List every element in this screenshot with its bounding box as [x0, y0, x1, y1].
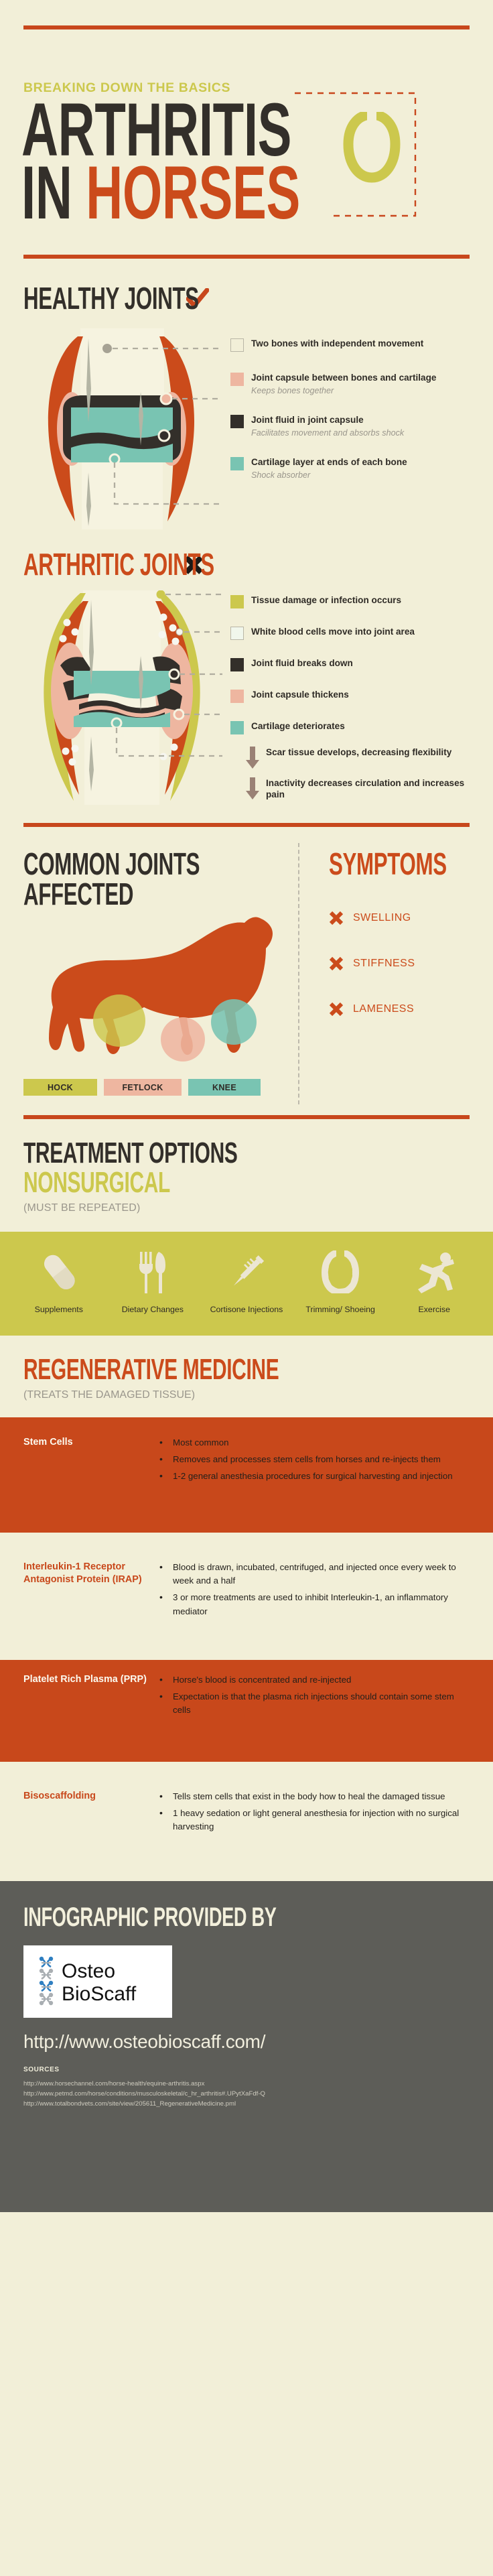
treatment-note: (MUST BE REPEATED) — [23, 1202, 470, 1214]
arrow-label: Scar tissue develops, decreasing flexibi… — [266, 747, 451, 758]
legend-label: Joint fluid in joint capsule — [251, 414, 404, 426]
healthy-joint-diagram — [21, 328, 222, 533]
legend-item: White blood cells move into joint area — [230, 626, 474, 640]
legend-swatch-fluid — [230, 415, 244, 428]
legend-label: Joint capsule thickens — [251, 689, 349, 700]
arrow-item: Inactivity decreases circulation and inc… — [245, 777, 474, 800]
infographic-page: BREAKING DOWN THE BASICS ARTHRITIS IN HO… — [0, 0, 493, 2576]
legend-swatch-joint-fluid — [230, 658, 244, 671]
logo-text-bottom: BioScaff — [62, 1983, 137, 2005]
bullet-item: Horse's blood is concentrated and re-inj… — [159, 1673, 473, 1687]
symptoms-panel: SYMPTOMS SWELLING STIFFNESS LAMENESS — [298, 850, 493, 1115]
treatment-option-label: Supplements — [15, 1304, 102, 1315]
horse-silhouette-icon — [23, 907, 298, 1078]
treatment-option-cortisone-injections[interactable]: Cortisone Injections — [202, 1249, 290, 1315]
legend-note: Shock absorber — [251, 470, 407, 481]
treatment-subheading: NONSURGICAL — [23, 1169, 327, 1197]
fork-knife-icon — [109, 1249, 196, 1293]
regenerative-row-title: Stem Cells — [23, 1436, 147, 1512]
healthy-heading-row: HEALTHY JOINTS — [23, 284, 493, 314]
symptom-item: LAMENESS — [329, 1002, 493, 1017]
vertical-divider — [298, 843, 299, 1104]
legend-item: Two bones with independent movement — [230, 338, 474, 352]
symptom-label: STIFFNESS — [353, 958, 415, 970]
regenerative-row-bisoscaffolding: Bisoscaffolding Tells stem cells that ex… — [0, 1762, 493, 1881]
regenerative-row-bullets: Tells stem cells that exist in the body … — [147, 1790, 473, 1861]
header-title-wrap: ARTHRITIS IN HORSES — [0, 100, 493, 222]
symptom-label: SWELLING — [353, 912, 411, 924]
arthritic-body: Tissue damage or infection occurs White … — [0, 590, 493, 808]
treatment-section: TREATMENT OPTIONS NONSURGICAL (MUST BE R… — [0, 1115, 493, 1336]
healthy-body: Two bones with independent movement Join… — [0, 328, 493, 533]
legend-label: Cartilage layer at ends of each bone — [251, 456, 407, 468]
source-link[interactable]: http://www.horsechannel.com/horse-health… — [23, 2079, 470, 2089]
treatment-heading-block: TREATMENT OPTIONS NONSURGICAL (MUST BE R… — [0, 1119, 493, 1232]
treatment-option-trimming-shoeing[interactable]: Trimming/ Shoeing — [296, 1249, 384, 1315]
legend-label: Tissue damage or infection occurs — [251, 594, 401, 606]
treatment-option-label: Cortisone Injections — [202, 1304, 290, 1315]
legend-item: Joint fluid in joint capsule Facilitates… — [230, 414, 474, 439]
regenerative-row-title: Interleukin-1 Receptor Antagonist Protei… — [23, 1561, 147, 1640]
top-rule — [23, 25, 470, 29]
legend-body: Cartilage layer at ends of each bone Sho… — [251, 456, 407, 481]
regenerative-row-stem-cells: Stem Cells Most common Removes and proce… — [0, 1417, 493, 1533]
regenerative-row-title: Bisoscaffolding — [23, 1790, 147, 1861]
bullet-item: 3 or more treatments are used to inhibit… — [159, 1591, 473, 1618]
legend-label: Joint fluid breaks down — [251, 657, 353, 669]
healthy-rule — [23, 255, 470, 259]
treatment-option-exercise[interactable]: Exercise — [391, 1249, 478, 1315]
arthritic-heading-row: ARTHRITIC JOINTS — [23, 550, 493, 580]
legend-label: Joint capsule between bones and cartilag… — [251, 372, 436, 383]
regenerative-row-prp: Platelet Rich Plasma (PRP) Horse's blood… — [0, 1660, 493, 1762]
legend-label: Two bones with independent movement — [251, 338, 423, 349]
legend-swatch-tissue-damage — [230, 595, 244, 608]
legend-item: Cartilage layer at ends of each bone Sho… — [230, 456, 474, 481]
regenerative-row-bullets: Most common Removes and processes stem c… — [147, 1436, 473, 1512]
sources-heading: SOURCES — [23, 2066, 470, 2073]
legend-note: Keeps bones together — [251, 386, 436, 397]
legend-swatch-cartilage-deteriorates — [230, 721, 244, 734]
bullet-item: Tells stem cells that exist in the body … — [159, 1790, 473, 1803]
symptom-label: LAMENESS — [353, 1003, 414, 1015]
x-icon — [329, 911, 344, 925]
legend-item: Joint fluid breaks down — [230, 657, 474, 671]
down-arrow-icon — [245, 747, 260, 769]
arrow-label: Inactivity decreases circulation and inc… — [266, 777, 474, 800]
joints-heading-line-1: COMMON JOINTS — [23, 850, 210, 879]
treatment-option-dietary-changes[interactable]: Dietary Changes — [109, 1249, 196, 1315]
treatment-option-label: Trimming/ Shoeing — [296, 1304, 384, 1315]
syringe-icon — [202, 1249, 290, 1293]
treatment-option-label: Dietary Changes — [109, 1304, 196, 1315]
treatment-option-label: Exercise — [391, 1304, 478, 1315]
common-joints-section: COMMON JOINTS AFFECTED HOCK FETLOCK KNEE — [0, 823, 493, 1115]
symptom-item: STIFFNESS — [329, 956, 493, 971]
arthritic-legend: Tissue damage or infection occurs White … — [222, 590, 474, 808]
legend-body: Joint capsule between bones and cartilag… — [251, 372, 436, 397]
legend-swatch-cartilage — [230, 457, 244, 470]
arthritic-joint-diagram — [21, 590, 222, 808]
horseshoe-icon — [296, 1249, 384, 1293]
pill-icon — [15, 1249, 102, 1293]
legend-label: Cartilage deteriorates — [251, 720, 345, 732]
header-section: BREAKING DOWN THE BASICS ARTHRITIS IN HO… — [0, 0, 493, 222]
runner-icon — [391, 1249, 478, 1293]
bullet-item: Most common — [159, 1436, 473, 1450]
regenerative-row-irap: Interleukin-1 Receptor Antagonist Protei… — [0, 1533, 493, 1660]
bullet-item: Removes and processes stem cells from ho… — [159, 1453, 473, 1466]
joint-chip-knee[interactable]: KNEE — [188, 1079, 261, 1096]
regenerative-note: (TREATS THE DAMAGED TISSUE) — [23, 1389, 470, 1401]
bullet-item: Blood is drawn, incubated, centrifuged, … — [159, 1561, 473, 1588]
bullet-item: 1-2 general anesthesia procedures for su… — [159, 1470, 473, 1483]
treatment-option-supplements[interactable]: Supplements — [15, 1249, 102, 1315]
regenerative-heading: REGENERATIVE MEDICINE — [23, 1356, 327, 1384]
logo-text-top: Osteo — [62, 1960, 115, 1982]
treatment-heading: TREATMENT OPTIONS — [23, 1139, 327, 1167]
title-line-2: IN HORSES — [21, 163, 342, 223]
x-icon — [329, 956, 344, 971]
arthritic-joints-section: ARTHRITIC JOINTS — [0, 550, 493, 808]
horseshoe-icon — [343, 112, 401, 183]
symptoms-list: SWELLING STIFFNESS LAMENESS — [329, 911, 493, 1017]
regenerative-section: REGENERATIVE MEDICINE (TREATS THE DAMAGE… — [0, 1336, 493, 1881]
symptoms-heading: SYMPTOMS — [329, 850, 447, 879]
arthritic-heading: ARTHRITIC JOINTS — [23, 550, 214, 580]
joint-chips: HOCK FETLOCK KNEE — [23, 1079, 298, 1096]
x-icon — [329, 1002, 344, 1017]
title-line-2-accent: HORSES — [86, 151, 300, 235]
legend-item: Tissue damage or infection occurs — [230, 594, 474, 608]
healthy-joints-section: HEALTHY JOINTS — [0, 255, 493, 533]
legend-label: White blood cells move into joint area — [251, 626, 415, 637]
site-url-link[interactable]: http://www.osteobioscaff.com/ — [23, 2031, 470, 2053]
regenerative-row-bullets: Blood is drawn, incubated, centrifuged, … — [147, 1561, 473, 1640]
legend-body: Joint fluid in joint capsule Facilitates… — [251, 414, 404, 439]
legend-swatch-white-blood-cells — [230, 627, 244, 640]
healthy-legend: Two bones with independent movement Join… — [222, 328, 474, 533]
bullet-item: Expectation is that the plasma rich inje… — [159, 1690, 473, 1717]
joints-left: COMMON JOINTS AFFECTED HOCK FETLOCK KNEE — [23, 850, 298, 1115]
regenerative-row-title: Platelet Rich Plasma (PRP) — [23, 1673, 147, 1742]
footer-title: INFOGRAPHIC PROVIDED BY — [23, 1904, 327, 1931]
source-link[interactable]: http://www.petmd.com/horse/conditions/mu… — [23, 2089, 470, 2100]
source-link[interactable]: http://www.totalbondvets.com/site/view/2… — [23, 2100, 470, 2110]
regenerative-row-bullets: Horse's blood is concentrated and re-inj… — [147, 1673, 473, 1742]
legend-note: Facilitates movement and absorbs shock — [251, 428, 404, 439]
legend-swatch-bones — [230, 338, 244, 352]
sources-list: http://www.horsechannel.com/horse-health… — [23, 2079, 470, 2110]
healthy-heading: HEALTHY JOINTS — [23, 284, 199, 314]
treatment-options-grid: Supplements Dietary Changes — [15, 1249, 478, 1315]
legend-swatch-capsule — [230, 373, 244, 386]
legend-item: Cartilage deteriorates — [230, 720, 474, 734]
title-line-2-prefix: IN — [21, 151, 86, 235]
osteo-bioscaff-logo: Osteo BioScaff — [23, 1945, 172, 2018]
regenerative-heading-block: REGENERATIVE MEDICINE (TREATS THE DAMAGE… — [0, 1336, 493, 1417]
footer-section: INFOGRAPHIC PROVIDED BY — [0, 1881, 493, 2212]
legend-item: Joint capsule thickens — [230, 689, 474, 703]
joint-chip-hock[interactable]: HOCK — [23, 1079, 97, 1096]
bullet-item: 1 heavy sedation or light general anesth… — [159, 1807, 473, 1833]
arrow-item: Scar tissue develops, decreasing flexibi… — [245, 747, 474, 769]
joints-heading-line-2: AFFECTED — [23, 880, 210, 909]
joints-symptoms-row: COMMON JOINTS AFFECTED HOCK FETLOCK KNEE — [0, 827, 493, 1115]
legend-body: Two bones with independent movement — [251, 338, 423, 349]
joint-chip-fetlock[interactable]: FETLOCK — [104, 1079, 182, 1096]
treatment-options-band: Supplements Dietary Changes — [0, 1232, 493, 1336]
symptom-item: SWELLING — [329, 911, 493, 925]
legend-swatch-capsule-thickens — [230, 690, 244, 703]
legend-item: Joint capsule between bones and cartilag… — [230, 372, 474, 397]
down-arrow-icon — [245, 777, 260, 800]
